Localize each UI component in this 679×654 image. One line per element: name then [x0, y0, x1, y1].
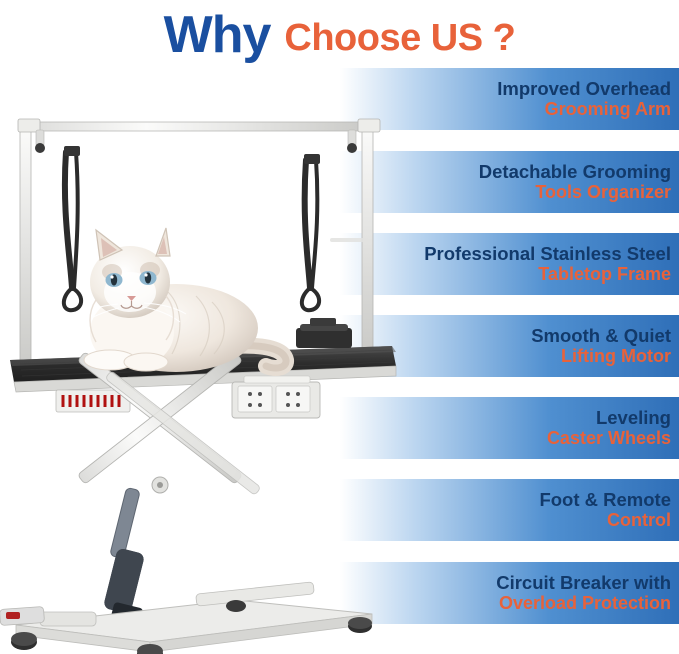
tools-organizer: [296, 318, 352, 348]
base-frame: [16, 582, 372, 652]
feature-5-line1: Leveling: [596, 408, 671, 429]
power-outlet-box: [232, 376, 320, 418]
cat: [76, 228, 286, 372]
feature-7-line1: Circuit Breaker with: [496, 573, 671, 594]
feature-3-line1: Professional Stainless Steel: [424, 244, 671, 265]
grooming-loop-right: [302, 154, 320, 310]
page-title: Why Choose US ?: [0, 2, 679, 68]
feature-4-line2: Lifting Motor: [561, 346, 671, 366]
grooming-loop-left: [64, 146, 81, 310]
feature-6-line2: Control: [607, 510, 671, 530]
feature-3-line2: Tabletop Frame: [538, 264, 671, 284]
product-photo: [0, 60, 400, 654]
feature-1-line1: Improved Overhead: [497, 79, 671, 100]
feature-1-line2: Grooming Arm: [545, 99, 671, 119]
feature-6-line1: Foot & Remote: [539, 490, 671, 511]
feature-4-line1: Smooth & Quiet: [531, 326, 671, 347]
lifting-motor: [103, 487, 145, 626]
feature-5-line2: Caster Wheels: [547, 428, 671, 448]
feature-2-line1: Detachable Grooming: [479, 162, 671, 183]
grooming-table-illustration: [0, 60, 400, 654]
feature-2-line2: Tools Organizer: [535, 182, 671, 202]
foot-pedal-control: [0, 606, 45, 625]
page-title-choose-us: Choose US ?: [284, 13, 515, 57]
page-title-why: Why: [164, 9, 271, 61]
feature-7-line2: Overload Protection: [499, 593, 671, 613]
